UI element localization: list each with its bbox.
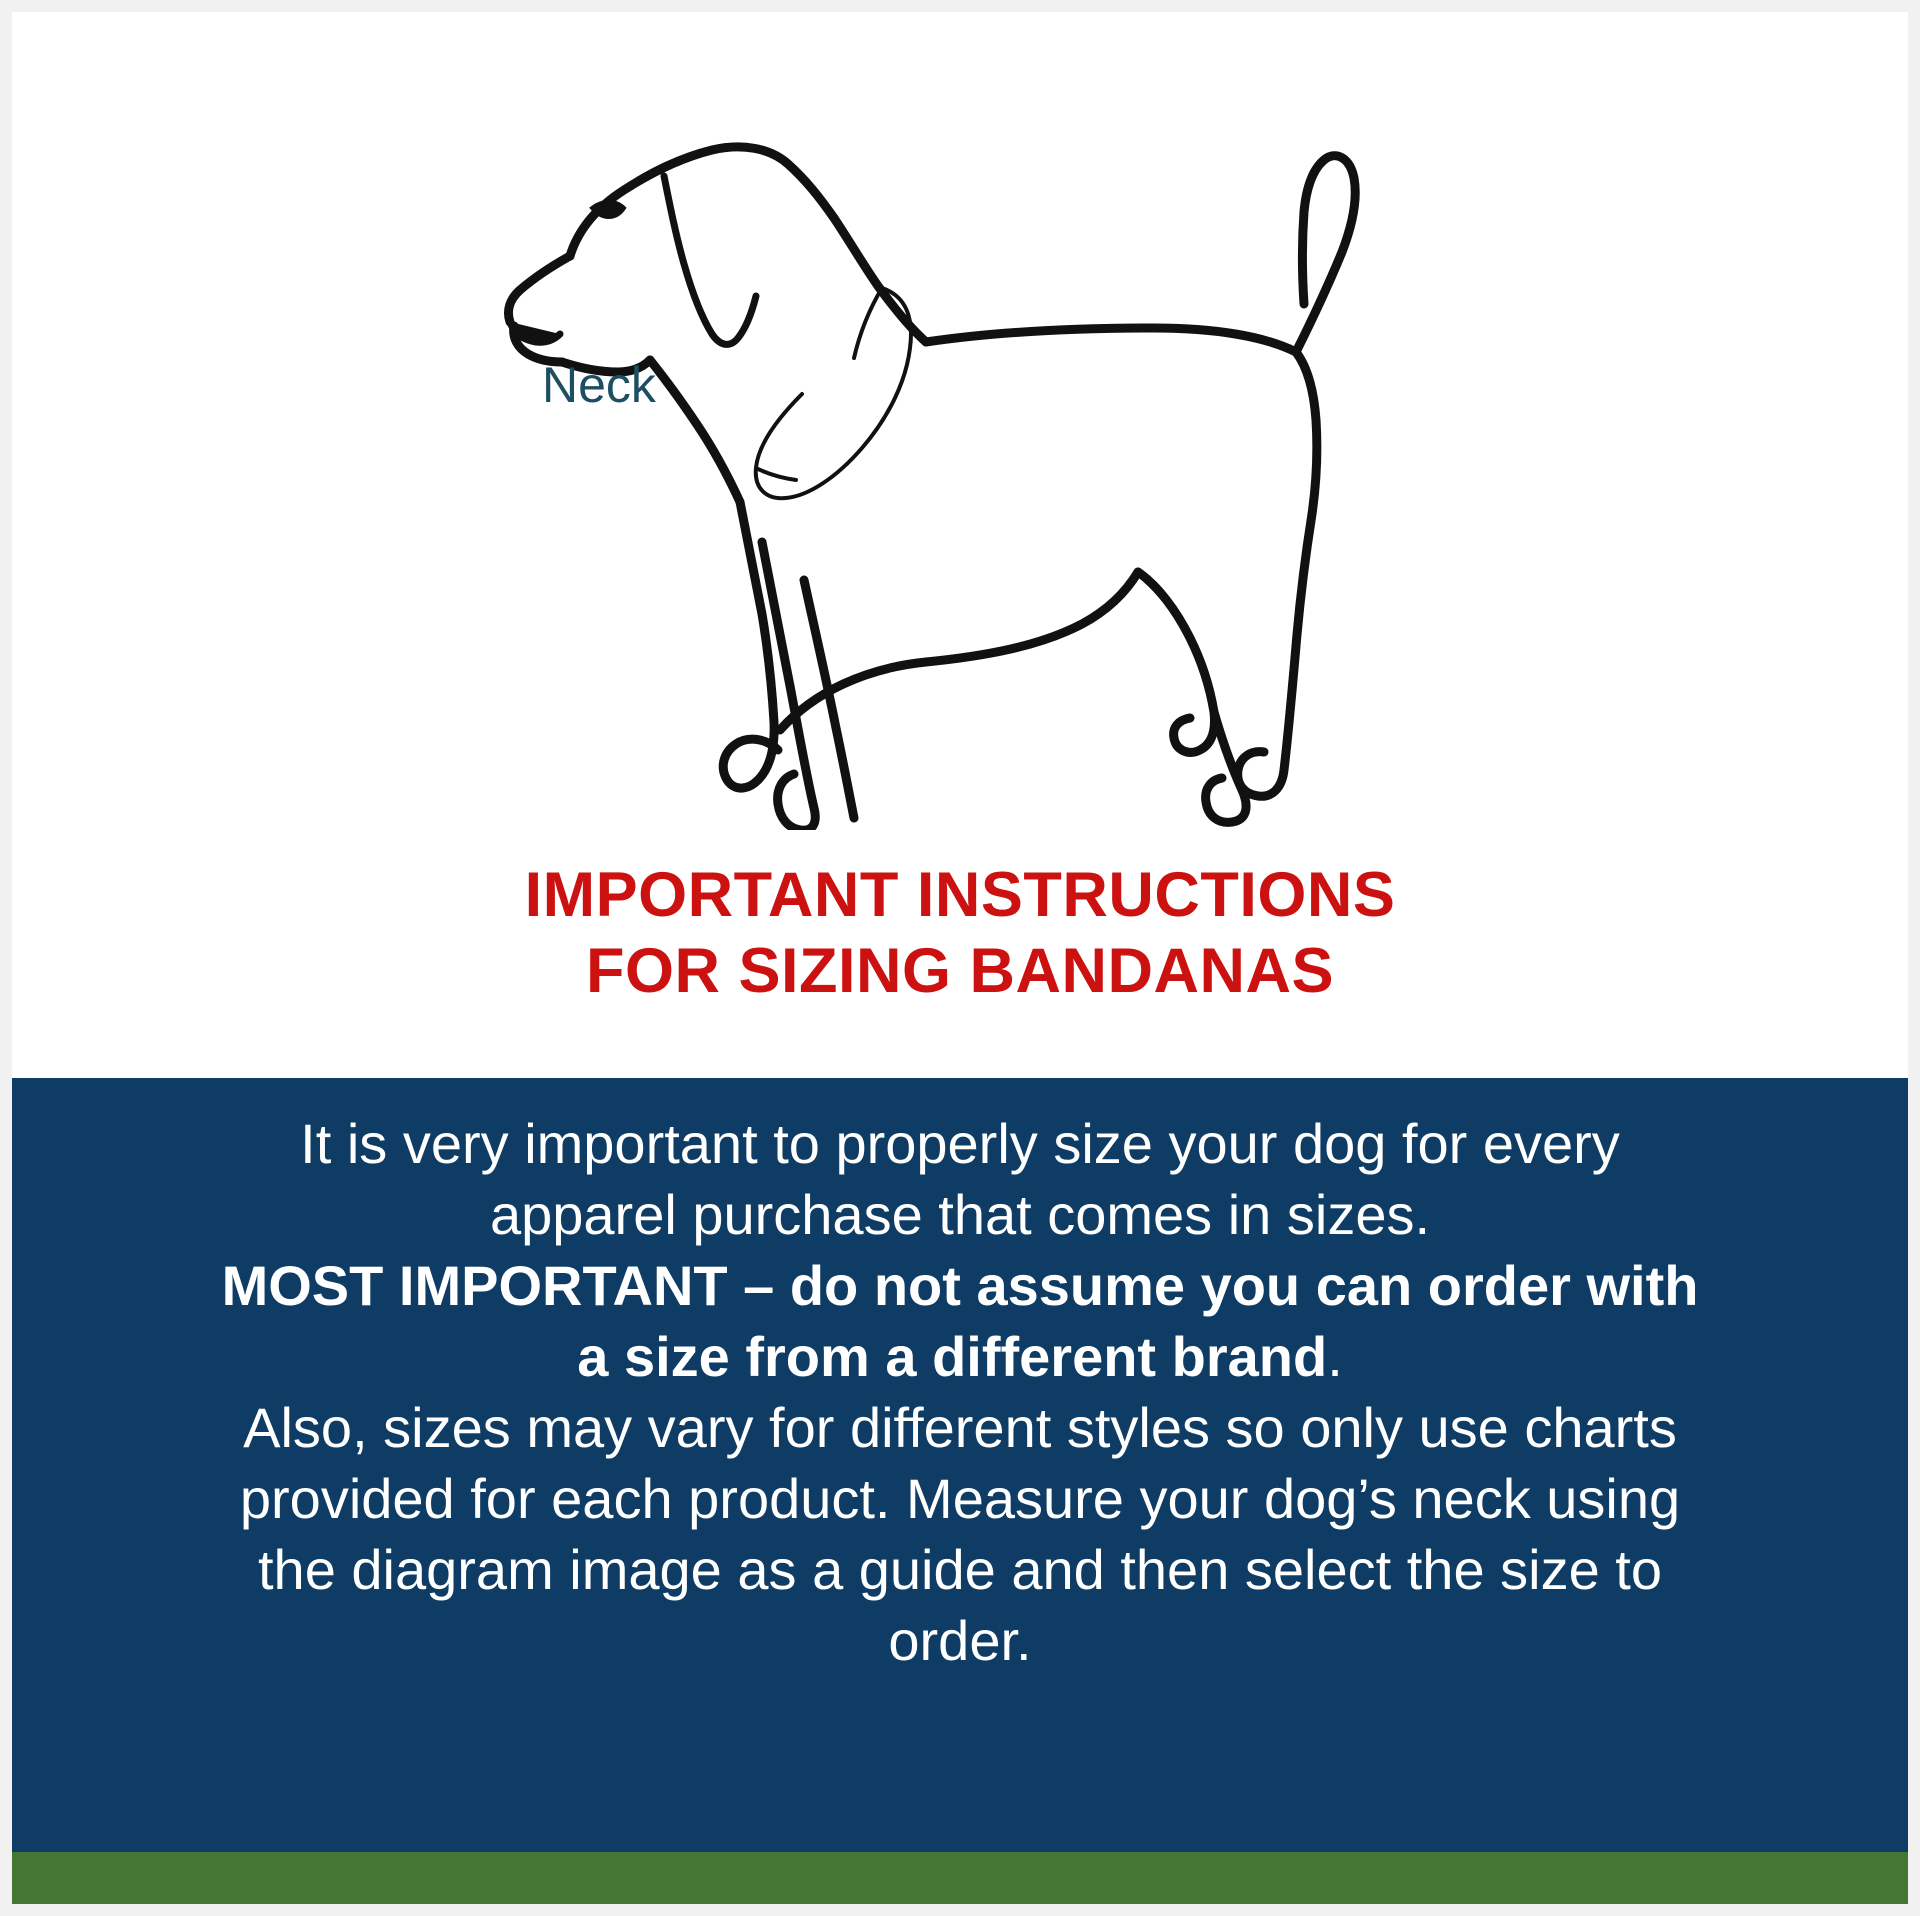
neck-measuring-loop-icon xyxy=(756,288,911,498)
instructions-line-5: Also, sizes may vary for different style… xyxy=(46,1392,1874,1463)
neck-label: Neck xyxy=(542,360,656,410)
page-title-line-2: FOR SIZING BANDANAS xyxy=(12,933,1908,1009)
instructions-line-8: order. xyxy=(46,1605,1874,1676)
size-guide-page: Neck IMPORTANT INSTRUCTIONS FOR SIZING B… xyxy=(0,0,1920,1916)
green-accent-bar xyxy=(12,1852,1908,1904)
dog-side-profile-outline-icon xyxy=(474,90,1374,830)
instructions-text: It is very important to properly size yo… xyxy=(46,1108,1874,1676)
instructions-line-1: It is very important to properly size yo… xyxy=(46,1108,1874,1179)
instructions-line-4: a size from a different brand. xyxy=(46,1321,1874,1392)
page-title: IMPORTANT INSTRUCTIONS FOR SIZING BANDAN… xyxy=(12,857,1908,1009)
instructions-line-4-bold: a size from a different brand xyxy=(577,1325,1327,1388)
instructions-line-2: apparel purchase that comes in sizes. xyxy=(46,1179,1874,1250)
instructions-panel: It is very important to properly size yo… xyxy=(12,1078,1908,1852)
instructions-line-7: the diagram image as a guide and then se… xyxy=(46,1534,1874,1605)
instructions-line-3-bold: MOST IMPORTANT – do not assume you can o… xyxy=(46,1250,1874,1321)
size-guide-card: Neck IMPORTANT INSTRUCTIONS FOR SIZING B… xyxy=(12,12,1908,1904)
instructions-line-6: provided for each product. Measure your … xyxy=(46,1463,1874,1534)
page-title-line-1: IMPORTANT INSTRUCTIONS xyxy=(12,857,1908,933)
dog-eye-icon xyxy=(592,202,624,217)
instructions-line-4-period: . xyxy=(1327,1325,1343,1388)
dog-diagram-region: Neck xyxy=(12,12,1908,867)
